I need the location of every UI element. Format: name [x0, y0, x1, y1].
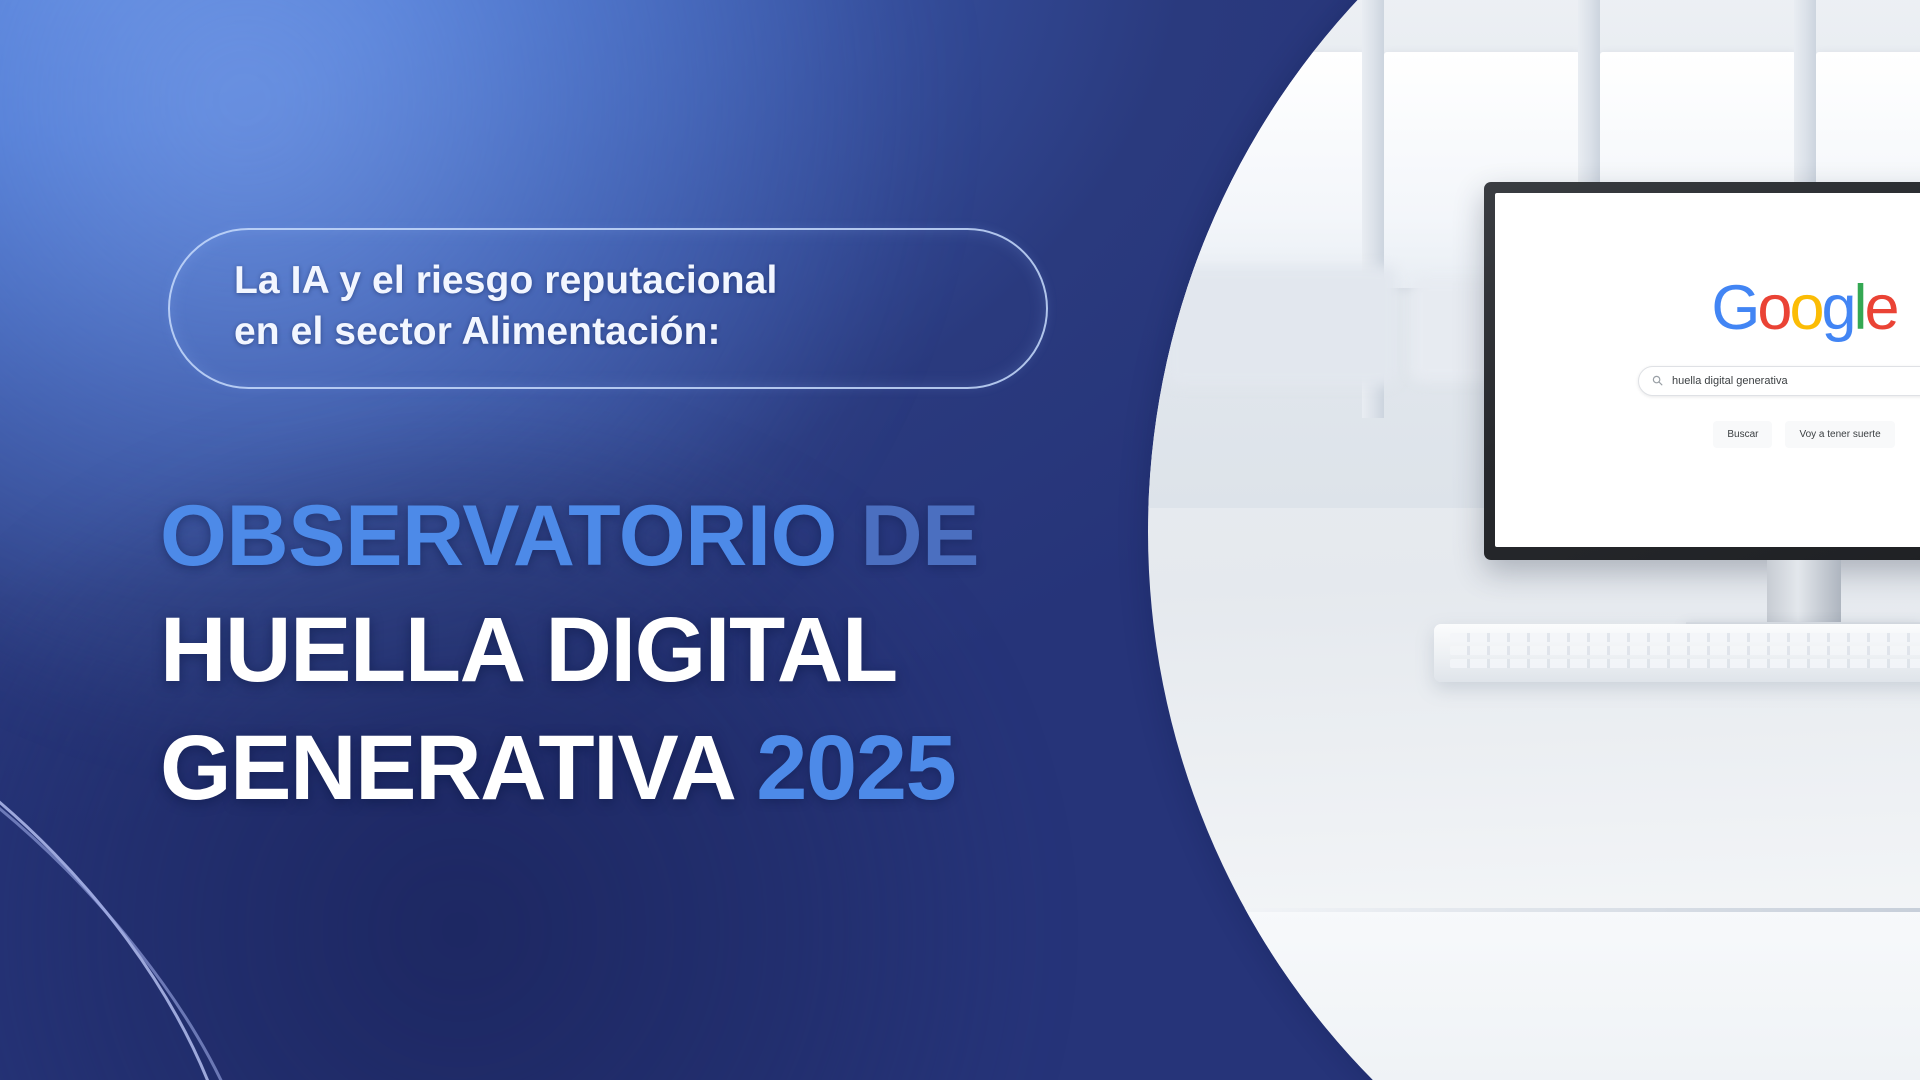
- google-logo: Google: [1711, 277, 1896, 340]
- headline-line-1: OBSERVATORIO DE: [160, 492, 1100, 581]
- google-letter-l: l: [1854, 273, 1865, 343]
- monitor-screen[interactable]: Google huella digital generativa: [1495, 193, 1920, 547]
- circular-photo-office: Google huella digital generativa: [1148, 0, 1920, 1080]
- headline-block: OBSERVATORIO DE HUELLA DIGITAL GENERATIV…: [160, 492, 1100, 817]
- google-letter-g2: g: [1822, 273, 1854, 343]
- google-lucky-button[interactable]: Voy a tener suerte: [1785, 421, 1894, 448]
- left-text-column: La IA y el riesgo reputacional en el sec…: [0, 0, 1120, 1080]
- google-search-button[interactable]: Buscar: [1713, 421, 1772, 448]
- monitor-bezel: Google huella digital generativa: [1484, 182, 1920, 560]
- monitor-neck: [1767, 560, 1841, 622]
- desk-surface: [1148, 908, 1920, 1080]
- search-input[interactable]: huella digital generativa: [1672, 375, 1919, 387]
- search-icon: [1652, 375, 1663, 386]
- slide-canvas: Google huella digital generativa: [0, 0, 1920, 1080]
- keyboard: [1434, 624, 1920, 682]
- headline-line-2: HUELLA DIGITAL: [160, 603, 1100, 699]
- google-letter-e: e: [1865, 273, 1897, 343]
- headline-de: DE: [860, 488, 979, 584]
- headline-generativa: GENERATIVA: [160, 717, 732, 819]
- google-letter-o2: o: [1789, 273, 1821, 343]
- imac-monitor: Google huella digital generativa: [1484, 182, 1920, 635]
- headline-observatorio: OBSERVATORIO: [160, 488, 837, 584]
- google-letter-o1: o: [1757, 273, 1789, 343]
- eyebrow-pill: La IA y el riesgo reputacional en el sec…: [168, 228, 1048, 389]
- google-search-bar[interactable]: huella digital generativa: [1638, 366, 1920, 396]
- office-room-scene: Google huella digital generativa: [1148, 0, 1920, 1080]
- headline-line-3: GENERATIVA 2025: [160, 721, 1100, 817]
- eyebrow-line-1: La IA y el riesgo reputacional: [234, 256, 1000, 307]
- google-buttons: Buscar Voy a tener suerte: [1713, 421, 1894, 448]
- google-homepage: Google huella digital generativa: [1495, 193, 1920, 547]
- eyebrow-line-2: en el sector Alimentación:: [234, 307, 1000, 358]
- headline-year: 2025: [756, 717, 955, 819]
- google-letter-g1: G: [1711, 273, 1757, 343]
